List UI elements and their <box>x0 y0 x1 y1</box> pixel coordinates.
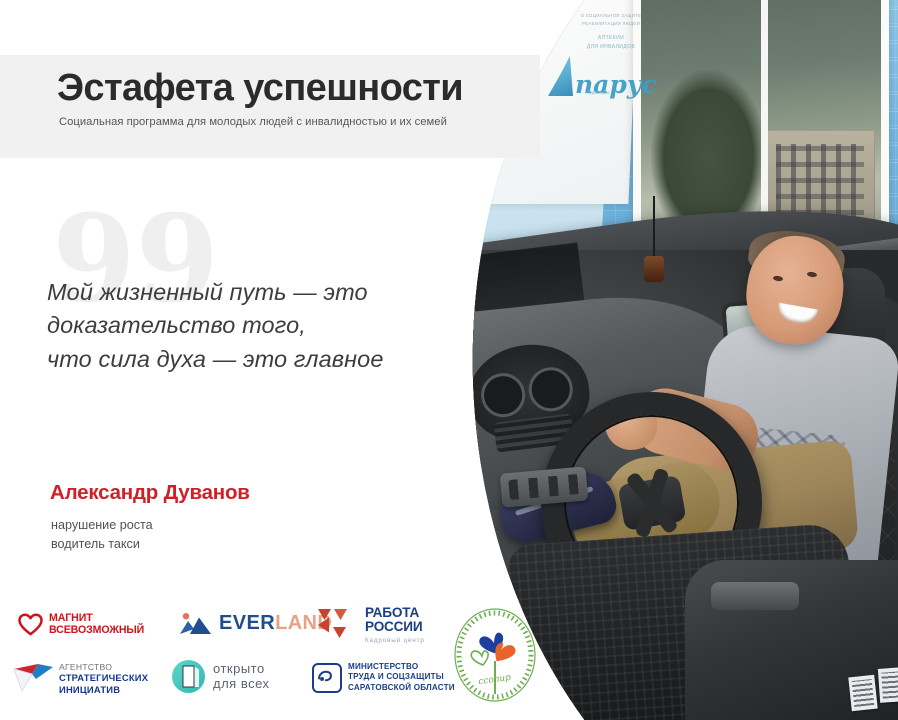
logo-rabota-rossii[interactable]: РАБОТА РОССИИ Кадровый центр <box>318 606 425 644</box>
person-name: Александр Дуванов <box>50 481 250 505</box>
triangles-icon <box>318 607 358 643</box>
poster-canvas: о социальной защите реабилитации людей А… <box>0 0 898 720</box>
person-meta-line-2: водитель такси <box>51 535 153 554</box>
logo-rabota-line-1: РАБОТА <box>365 606 425 620</box>
mountain-icon <box>178 612 212 634</box>
logo-ministry-line-3: САРАТОВСКОЙ ОБЛАСТИ <box>348 683 455 693</box>
ministry-icon <box>312 663 342 693</box>
logo-otkryto-line-1: открыто <box>213 662 270 677</box>
arrow-icon <box>12 663 54 693</box>
hanging-air-freshener <box>653 196 655 262</box>
quote-text: Мой жизненный путь — это доказательство … <box>47 276 467 376</box>
open-door-icon <box>172 660 205 693</box>
logo-rabota-line-2: РОССИИ <box>365 620 425 634</box>
door-sticker-2 <box>878 667 898 703</box>
header-band: Эстафета успешности Социальная программа… <box>0 55 540 158</box>
logo-magnit-line-1: МАГНИТ <box>49 612 144 624</box>
page-subtitle: Социальная программа для молодых людей с… <box>59 116 517 128</box>
door-handle <box>711 582 799 610</box>
partner-logos: МАГНИТ ВСЕВОЗМОЖНЫЙ EVERLAND <box>0 600 545 720</box>
page-title: Эстафета успешности <box>57 69 517 109</box>
logo-magnit-line-2: ВСЕВОЗМОЖНЫЙ <box>49 624 144 636</box>
logo-ministry-line-2: ТРУДА И СОЦЗАЩИТЫ <box>348 672 455 682</box>
logo-asi-line-1: АГЕНТСТВО <box>59 662 148 672</box>
logo-everland-part-a: EVER <box>219 612 275 634</box>
logo-everland-wordmark: EVERLAND <box>219 613 332 633</box>
logo-otkryto-dlya-vseh[interactable]: открыто для всех <box>172 660 270 693</box>
logo-otkryto-line-2: для всех <box>213 677 270 692</box>
quote-line-1: Мой жизненный путь — это <box>47 276 467 309</box>
logo-round-emblem[interactable]: ссопир <box>452 606 538 704</box>
logo-asi[interactable]: АГЕНТСТВО СТРАТЕГИЧЕСКИХ ИНИЦИАТИВ <box>12 662 148 695</box>
logo-asi-line-2: СТРАТЕГИЧЕСКИХ <box>59 672 148 683</box>
logo-everland[interactable]: EVERLAND <box>178 612 332 634</box>
logo-rabota-sub: Кадровый центр <box>365 637 425 644</box>
logo-ministry-line-1: МИНИСТЕРСТВО <box>348 662 455 672</box>
person-meta: нарушение роста водитель такси <box>51 516 153 554</box>
logo-asi-line-3: ИНИЦИАТИВ <box>59 684 148 695</box>
clover-hearts-emblem-icon: ссопир <box>452 606 538 704</box>
quote-line-3: что сила духа — это главное <box>47 343 467 376</box>
quote-line-2: доказательство того, <box>47 309 467 342</box>
heart-icon <box>18 613 43 636</box>
person-meta-line-1: нарушение роста <box>51 516 153 535</box>
door-sticker-1 <box>848 675 877 712</box>
logo-magnit[interactable]: МАГНИТ ВСЕВОЗМОЖНЫЙ <box>18 612 144 636</box>
logo-ministry[interactable]: МИНИСТЕРСТВО ТРУДА И СОЦЗАЩИТЫ САРАТОВСК… <box>312 662 455 693</box>
